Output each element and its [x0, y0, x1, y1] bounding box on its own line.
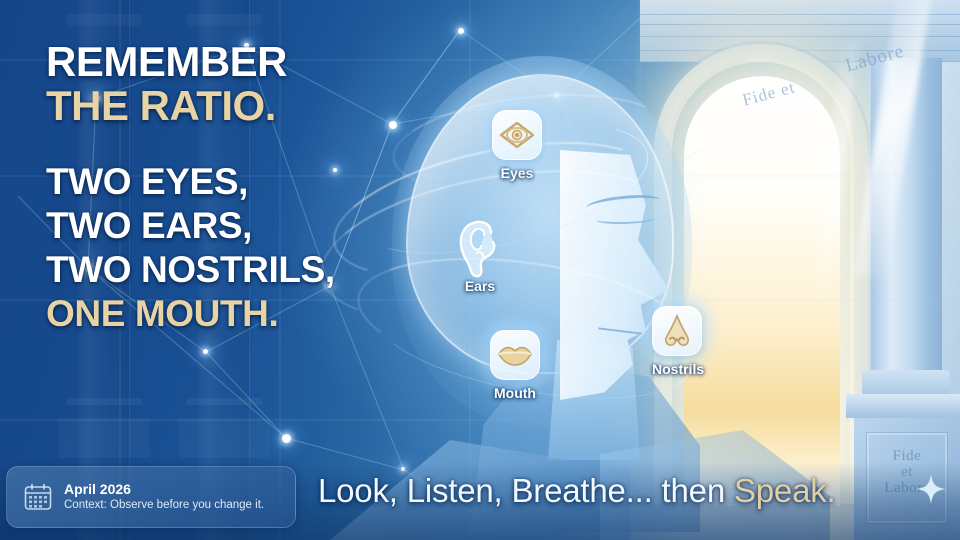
eye-icon: [492, 110, 542, 160]
subhead-line-3: TWO NOSTRILS,: [46, 248, 406, 292]
tagline-period: .: [827, 472, 836, 509]
nose-icon: [652, 306, 702, 356]
lips-icon: [490, 330, 540, 380]
callout-nostrils[interactable]: Nostrils: [652, 306, 704, 377]
headline-line-2: THE RATIO.: [46, 84, 386, 128]
network-node: [282, 434, 291, 443]
subhead-line-4: ONE MOUTH.: [46, 292, 406, 336]
network-node: [389, 121, 397, 129]
sparkle-icon: [916, 474, 946, 504]
date-badge-context: Context: Observe before you change it.: [64, 498, 264, 513]
headline-line-1: REMEMBER: [46, 40, 386, 84]
network-node: [203, 349, 208, 354]
tagline: Look, Listen, Breathe... then Speak.: [318, 472, 836, 510]
callout-ears-label: Ears: [452, 278, 508, 294]
subhead-line-1: TWO EYES,: [46, 160, 406, 204]
ear-icon: [452, 218, 508, 280]
date-badge-text: April 2026 Context: Observe before you c…: [64, 481, 264, 513]
callout-nostrils-label: Nostrils: [652, 361, 704, 377]
callout-ears[interactable]: Ears: [452, 218, 508, 294]
date-badge[interactable]: April 2026 Context: Observe before you c…: [6, 466, 296, 528]
date-badge-month: April 2026: [64, 481, 264, 498]
callout-eyes[interactable]: Eyes: [492, 110, 542, 181]
callout-mouth[interactable]: Mouth: [490, 330, 540, 401]
callout-eyes-label: Eyes: [492, 165, 542, 181]
tagline-emphasis: Speak: [734, 472, 827, 509]
calendar-icon: [23, 482, 53, 512]
subhead-line-2: TWO EARS,: [46, 204, 406, 248]
network-node: [458, 28, 464, 34]
tagline-lead: Look, Listen, Breathe... then: [318, 472, 734, 509]
callout-mouth-label: Mouth: [490, 385, 540, 401]
poster-canvas: Fide et Labore Fide et Labore: [0, 0, 960, 540]
headline-block: REMEMBER THE RATIO.: [46, 40, 386, 128]
subhead-block: TWO EYES, TWO EARS, TWO NOSTRILS, ONE MO…: [46, 160, 406, 336]
